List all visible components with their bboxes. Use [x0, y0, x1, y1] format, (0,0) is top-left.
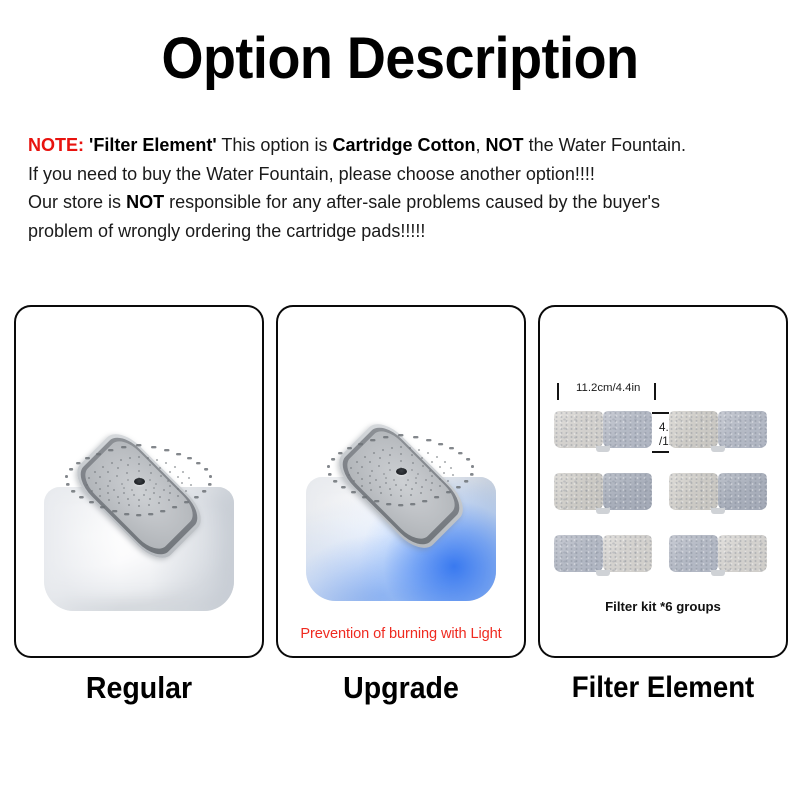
cartridge-tab	[596, 508, 610, 514]
page-title: Option Description	[28, 26, 772, 92]
cartridge-lobe-right	[718, 535, 767, 572]
cartridge-texture	[669, 535, 718, 572]
note-label: NOTE:	[28, 134, 84, 155]
cartridge-lobe-right	[603, 535, 652, 572]
filter-cartridge	[554, 535, 652, 575]
cartridge-tab	[596, 570, 610, 576]
option-panel-regular[interactable]	[14, 305, 264, 658]
dimension-width-label: 11.2cm/4.4in	[576, 382, 640, 394]
option-panel-upgrade[interactable]: Prevention of burning with Light	[276, 305, 526, 658]
cartridge-lobe-right	[718, 473, 767, 510]
dimension-tick-left	[557, 383, 559, 400]
note-block: NOTE: 'Filter Element' This option is Ca…	[28, 131, 773, 245]
cartridge-texture	[603, 411, 652, 448]
note-line-1: NOTE: 'Filter Element' This option is Ca…	[28, 131, 773, 160]
product-options-row: Prevention of burning with Light 11.2cm/…	[14, 305, 786, 660]
filter-cartridge-grid	[554, 411, 774, 586]
note-line-2: If you need to buy the Water Fountain, p…	[28, 160, 773, 189]
cartridge-lobe-left	[554, 535, 603, 572]
note-line-3: Our store is NOT responsible for any aft…	[28, 188, 773, 217]
cartridge-texture	[669, 473, 718, 510]
cartridge-tab	[596, 446, 610, 452]
dimension-tick-right	[654, 383, 656, 400]
caption-upgrade: Upgrade	[286, 668, 516, 708]
note-quoted-option: 'Filter Element'	[89, 134, 217, 155]
cartridge-lobe-left	[669, 535, 718, 572]
filter-cartridge	[669, 535, 767, 575]
cartridge-texture	[718, 411, 767, 448]
cartridge-tab	[711, 446, 725, 452]
cartridge-lobe-left	[669, 411, 718, 448]
note-line3-pre: Our store is	[28, 191, 126, 212]
filter-kit-label: Filter kit *6 groups	[540, 599, 786, 614]
note-line3-bold-not: NOT	[126, 191, 164, 212]
filter-cartridge	[669, 411, 767, 451]
cartridge-lobe-right	[718, 411, 767, 448]
filter-cartridge	[554, 411, 652, 451]
option-panel-filter-element[interactable]: 11.2cm/4.4in 4.3 cm /1.7in	[538, 305, 788, 658]
fountain-lid	[49, 425, 229, 537]
cartridge-tab	[711, 508, 725, 514]
note-line1-tail: the Water Fountain.	[524, 134, 686, 155]
caption-regular: Regular	[24, 668, 254, 708]
filter-cartridge	[554, 473, 652, 513]
caption-filter-element: Filter Element	[548, 668, 778, 708]
cartridge-lobe-left	[554, 411, 603, 448]
upgrade-overlay-text: Prevention of burning with Light	[278, 626, 524, 642]
note-line3-post: responsible for any after-sale problems …	[164, 191, 660, 212]
fountain-lid	[311, 415, 491, 527]
option-captions-row: Regular Upgrade Filter Element	[14, 668, 786, 720]
cartridge-lobe-right	[603, 411, 652, 448]
cartridge-lobe-left	[554, 473, 603, 510]
filter-cartridge	[669, 473, 767, 513]
cartridge-texture	[669, 411, 718, 448]
fountain-spout-hole	[396, 468, 407, 475]
note-line1-mid1: This option is	[217, 134, 333, 155]
cartridge-texture	[603, 473, 652, 510]
note-line1-bold-cartridge-cotton: Cartridge Cotton	[332, 134, 475, 155]
cartridge-texture	[554, 411, 603, 448]
water-fountain-illustration-regular	[33, 425, 245, 615]
cartridge-texture	[718, 473, 767, 510]
note-line1-mid2: ,	[476, 134, 486, 155]
cartridge-lobe-right	[603, 473, 652, 510]
note-line-4: problem of wrongly ordering the cartridg…	[28, 217, 773, 246]
note-line1-bold-not: NOT	[486, 134, 524, 155]
filter-cartridges-area: 11.2cm/4.4in 4.3 cm /1.7in	[554, 381, 774, 591]
cartridge-texture	[603, 535, 652, 572]
cartridge-lobe-left	[669, 473, 718, 510]
cartridge-tab	[711, 570, 725, 576]
water-fountain-illustration-upgrade	[295, 415, 507, 605]
cartridge-texture	[554, 535, 603, 572]
fountain-spout-hole	[134, 478, 145, 485]
cartridge-texture	[554, 473, 603, 510]
cartridge-texture	[718, 535, 767, 572]
